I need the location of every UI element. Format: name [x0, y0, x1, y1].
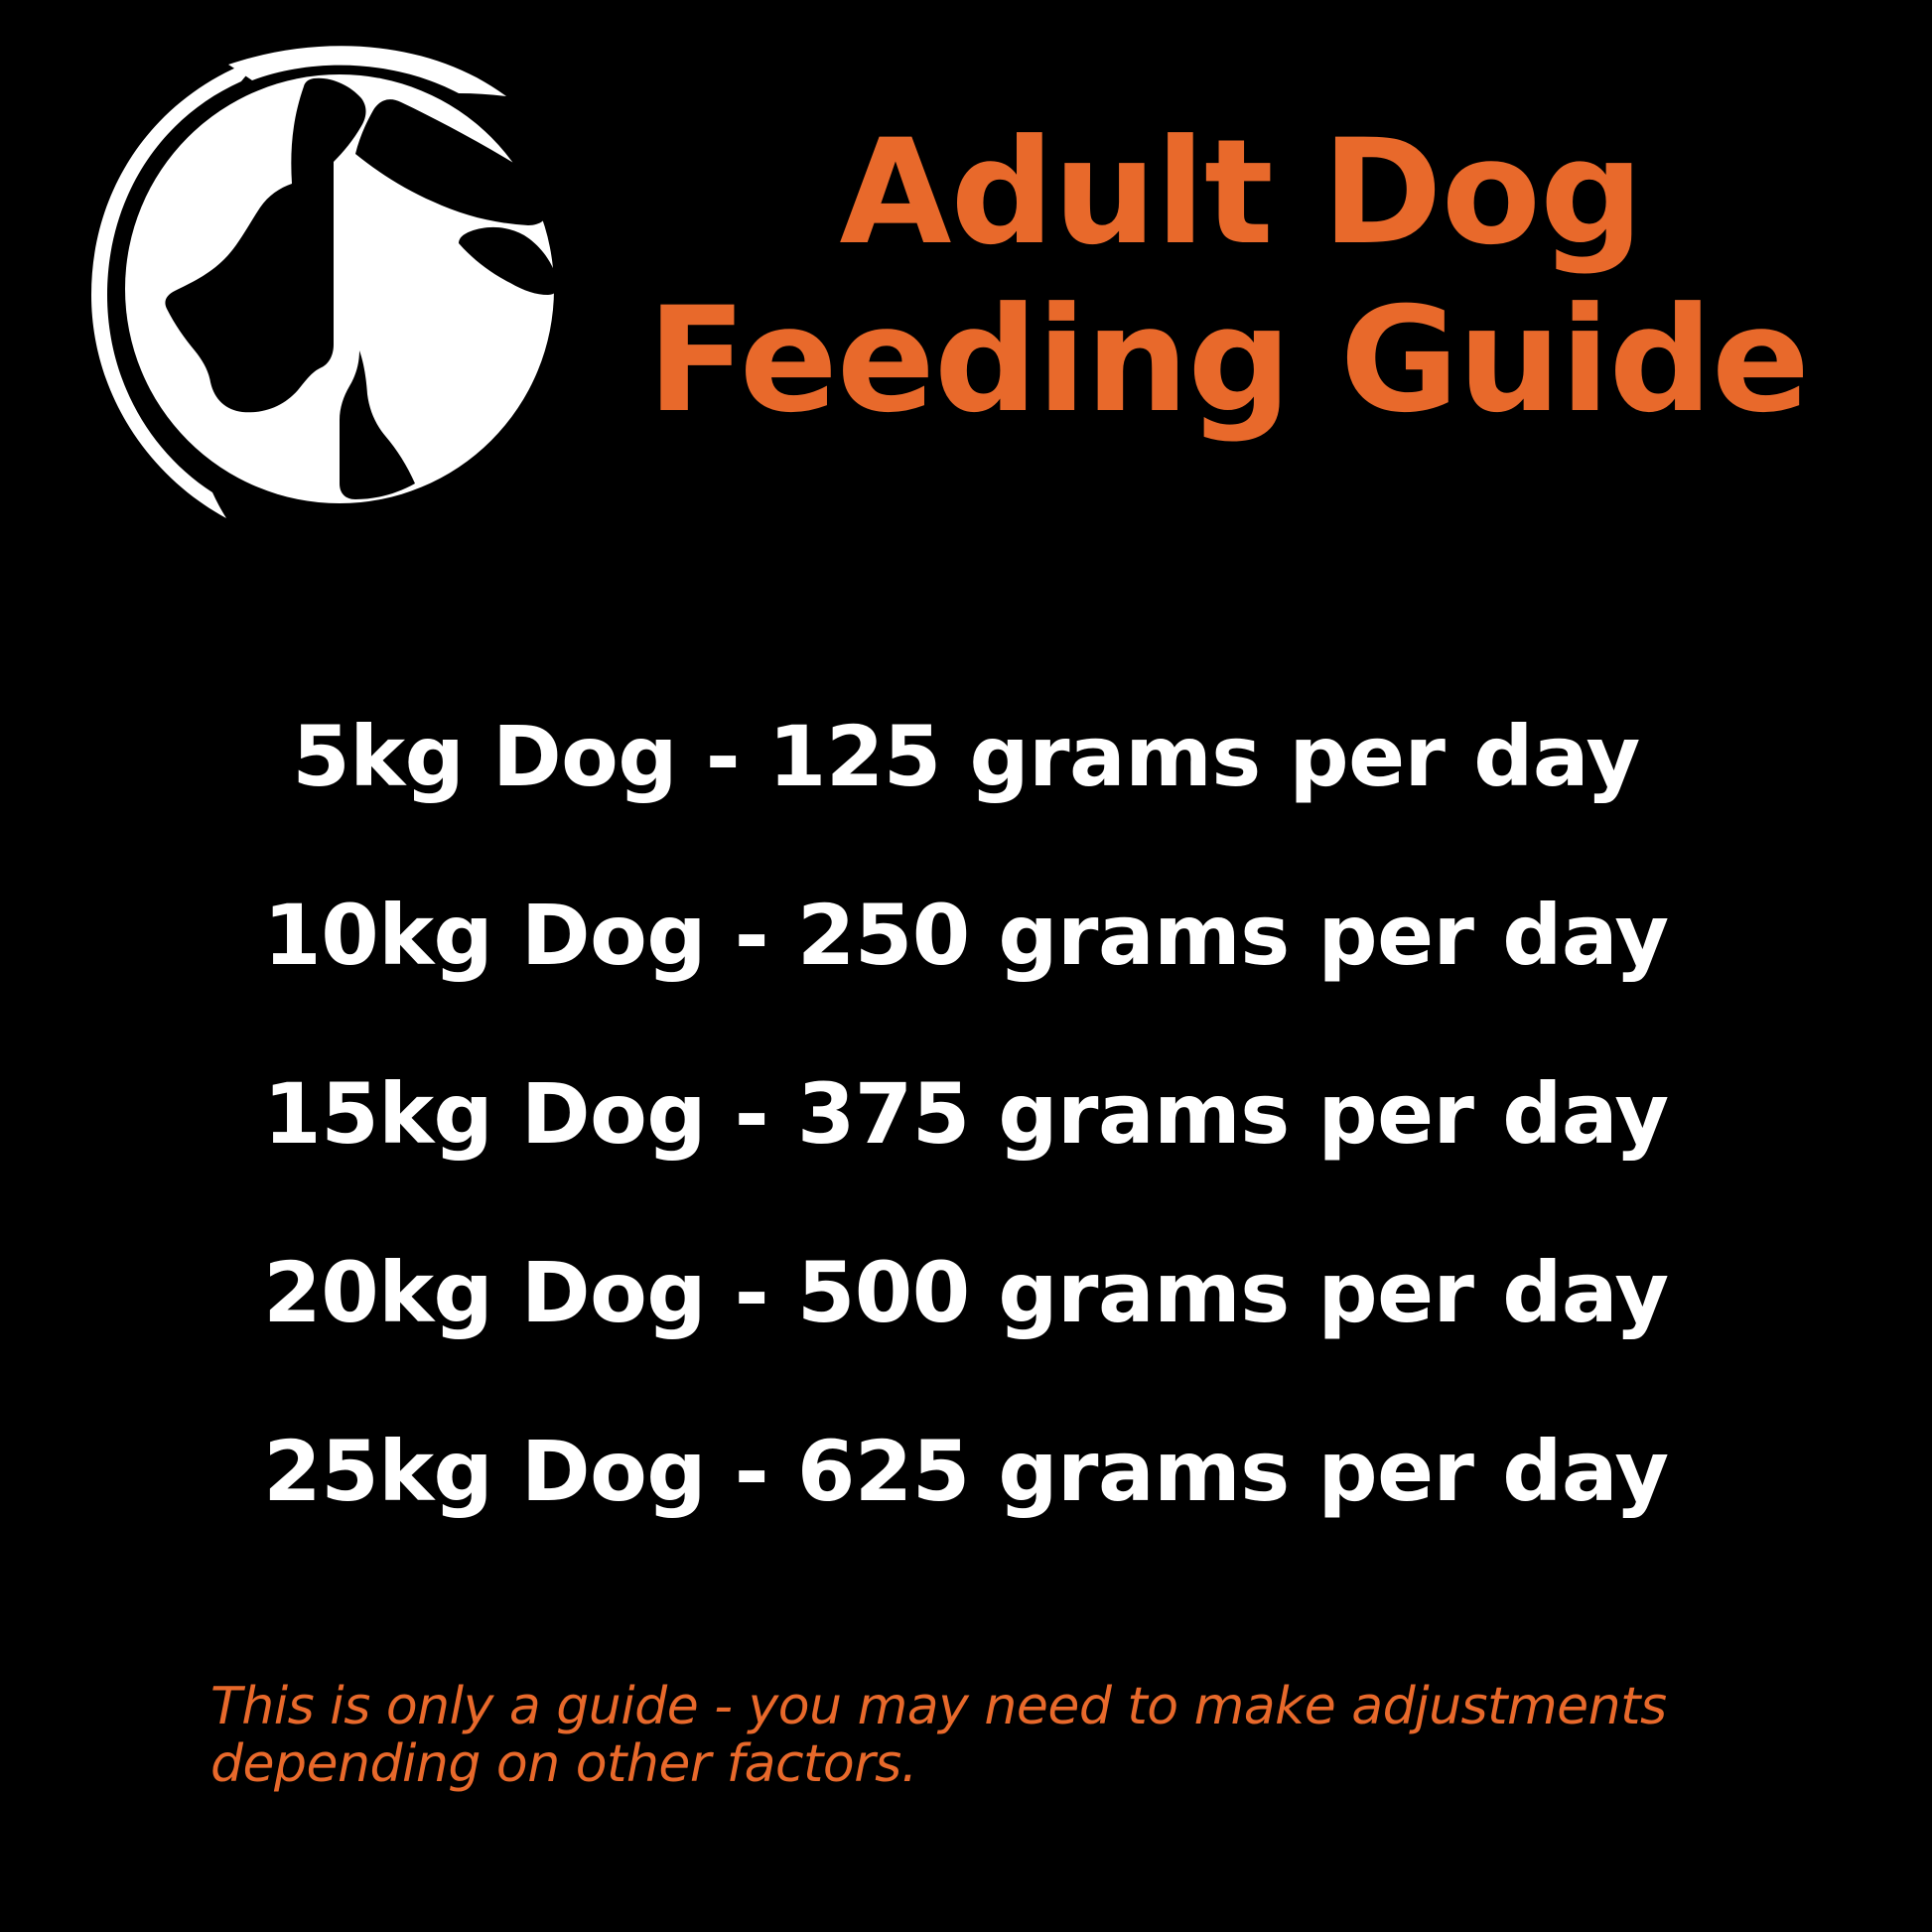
dog-cat-circle-logo-icon	[69, 35, 616, 551]
poster-header: Adult Dog Feeding Guide	[0, 0, 1932, 596]
feeding-row: 15kg Dog - 375 grams per day	[0, 1025, 1932, 1203]
feeding-row: 25kg Dog - 625 grams per day	[0, 1382, 1932, 1561]
feeding-row: 10kg Dog - 250 grams per day	[0, 846, 1932, 1025]
feeding-guide-list: 5kg Dog - 125 grams per day 10kg Dog - 2…	[0, 667, 1932, 1561]
page-title: Adult Dog Feeding Guide	[596, 109, 1886, 446]
feeding-guide-poster: Adult Dog Feeding Guide 5kg Dog - 125 gr…	[0, 0, 1932, 1932]
disclaimer-text: This is only a guide - you may need to m…	[210, 1678, 1759, 1793]
feeding-row: 5kg Dog - 125 grams per day	[0, 667, 1932, 846]
feeding-row: 20kg Dog - 500 grams per day	[0, 1203, 1932, 1382]
page-title-line-2: Feeding Guide	[570, 277, 1886, 445]
page-title-line-1: Adult Dog	[596, 109, 1886, 277]
